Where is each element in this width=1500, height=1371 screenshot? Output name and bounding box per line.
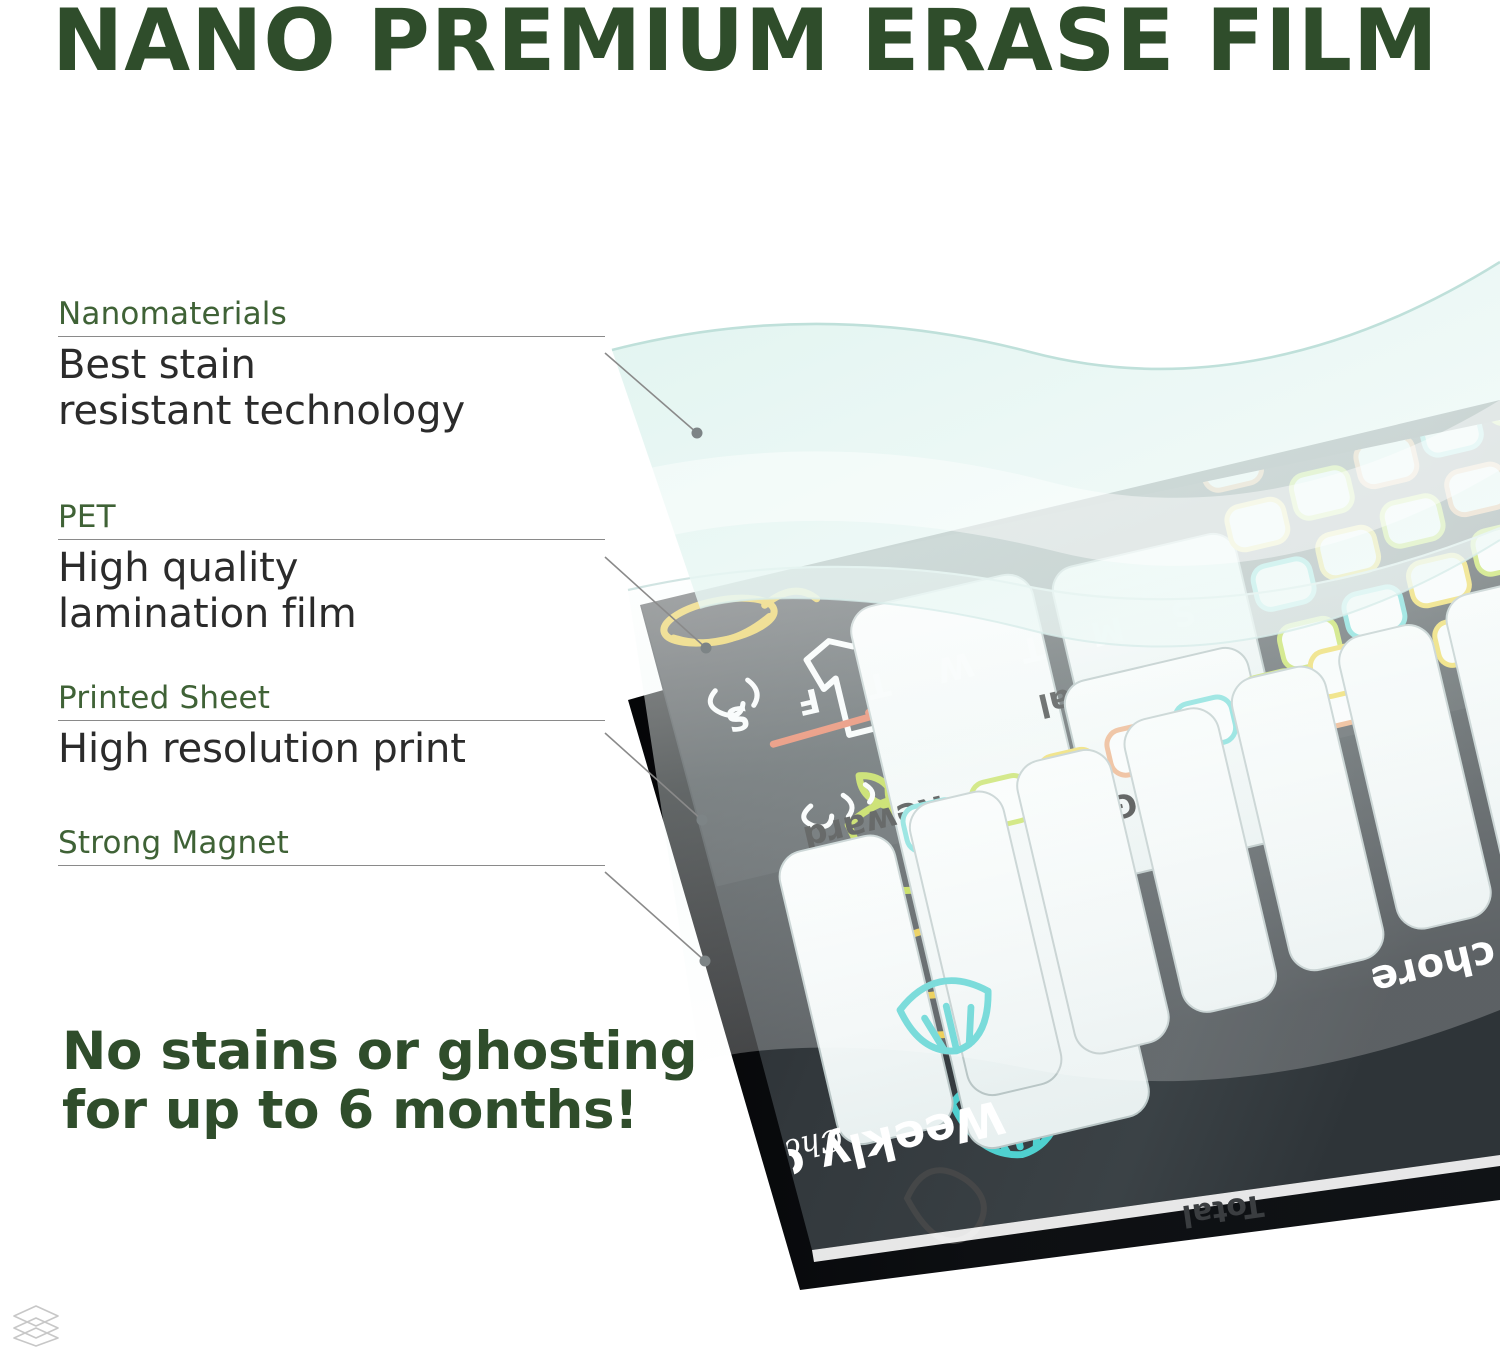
tagline: No stains or ghosting for up to 6 months…	[62, 1022, 697, 1141]
plant-icon	[835, 748, 976, 900]
chore-icon-strip	[659, 556, 1093, 1269]
stacked-layers-icon	[8, 1300, 64, 1348]
feature-body: High quality lamination film	[58, 546, 605, 637]
printed-sheet-leader-line	[605, 733, 702, 820]
shell-icon	[947, 1059, 1077, 1165]
reward-column: Reward	[756, 570, 1154, 1175]
pet-lamination-layer	[628, 528, 1500, 1081]
basket-icon	[866, 917, 1016, 1046]
doodle-icon	[902, 1163, 991, 1249]
feature-block-printed-sheet: Printed Sheet High resolution print	[58, 681, 605, 773]
feature-heading: Printed Sheet	[58, 681, 605, 715]
tshirt-icon	[803, 627, 922, 740]
feature-block-pet: PET High quality lamination film	[58, 500, 605, 637]
leaf-icon	[930, 857, 1016, 929]
film-highlight	[640, 400, 1500, 566]
svg-text:chore: chore	[1367, 930, 1500, 1004]
dust-icon	[799, 784, 878, 830]
goal-label: Goal	[1054, 784, 1141, 839]
trash-icon	[769, 689, 976, 820]
goal-box: Goal	[1028, 643, 1289, 888]
printed-sheet-face	[640, 400, 1500, 1250]
checkbox-grid	[1183, 300, 1500, 743]
feature-block-nanomaterials: Nanomaterials Best stain resistant techn…	[58, 297, 605, 434]
svg-text:Weekly chore: Weekly chore	[657, 1089, 1009, 1221]
feature-rule	[58, 336, 605, 337]
right-edge-label: chore	[1367, 930, 1500, 1004]
feature-block-strong-magnet: Strong Magnet	[58, 826, 605, 872]
feature-rule	[58, 865, 605, 866]
edge-total-label: Total	[1180, 1187, 1266, 1233]
checkbox-grid-lower	[887, 642, 1388, 855]
chore-board: Reward Total Goal S M T W T F S	[628, 300, 1500, 1290]
feature-rule	[58, 539, 605, 540]
sheet-bevel	[812, 1155, 1500, 1262]
pet-leader-dot	[701, 643, 712, 654]
infographic-canvas: Reward Total Goal S M T W T F S	[0, 0, 1500, 1371]
svg-text:Total: Total	[1180, 1187, 1266, 1233]
feature-body: Best stain resistant technology	[58, 343, 605, 434]
printed-sheet-leader-dot	[697, 815, 708, 826]
pet-leader-line	[605, 557, 706, 648]
nanomaterials-leader-line	[605, 353, 697, 433]
day-header-row: S M T W T F S	[703, 592, 1199, 744]
nano-film-layer	[612, 262, 1500, 646]
broom-handle	[707, 679, 761, 719]
strong-magnet-leader-line	[605, 872, 705, 961]
pet-layer-edge	[628, 528, 1500, 599]
feature-heading: PET	[58, 500, 605, 534]
feature-rule	[58, 720, 605, 721]
total-label: Total	[1035, 668, 1129, 725]
nano-film-top-edge	[612, 262, 1500, 369]
strong-magnet-leader-dot	[700, 956, 711, 967]
broom-icon	[659, 581, 821, 652]
feature-heading: Nanomaterials	[58, 297, 605, 331]
total-box: Total	[1010, 529, 1276, 772]
nanomaterials-leader-dot	[692, 428, 703, 439]
board-title: Weekly chore	[657, 1089, 1009, 1221]
feature-body: High resolution print	[58, 727, 605, 773]
feature-heading: Strong Magnet	[58, 826, 605, 860]
board-shell-icon	[896, 972, 1000, 1062]
nano-film-lower-edge	[700, 540, 1500, 646]
magnet-layer-edge	[628, 455, 1500, 1290]
writein-rows	[752, 578, 1500, 1149]
day-letters: S M T W T F S	[703, 592, 1199, 744]
page-title: NANO PREMIUM ERASE FILM	[52, 0, 1458, 86]
reward-label: Reward	[799, 786, 949, 858]
leader-lines	[605, 353, 712, 967]
